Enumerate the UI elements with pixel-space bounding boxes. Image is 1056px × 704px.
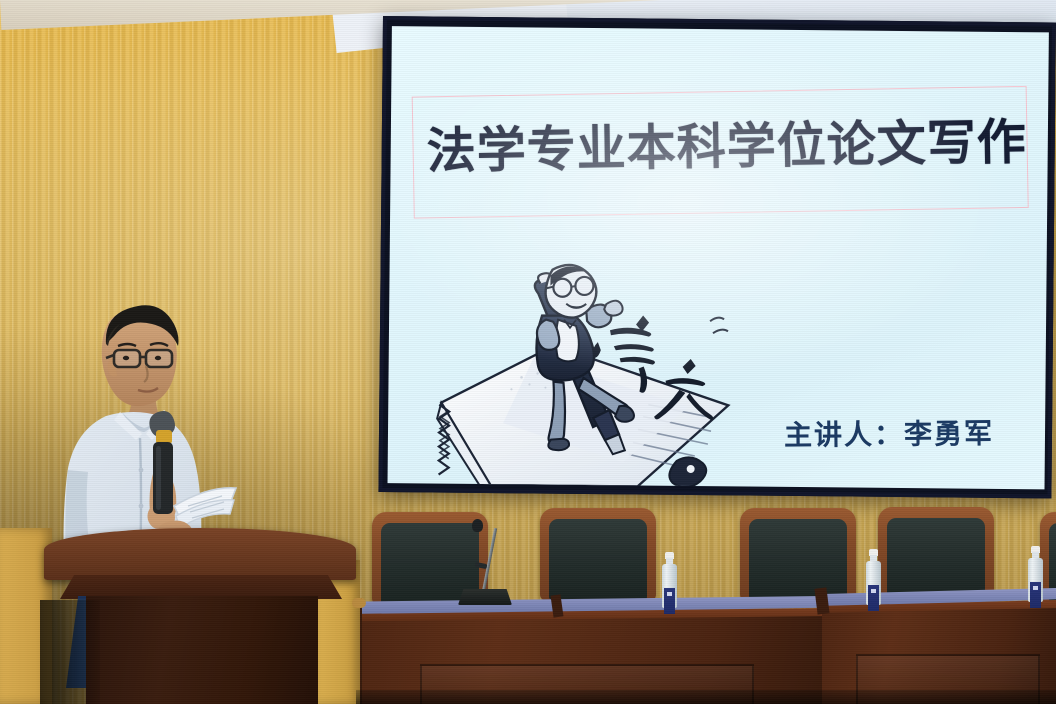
lectern-shadow	[40, 600, 100, 704]
slide-presenter-line: 主讲人：李勇军	[784, 412, 994, 454]
bottle-body	[1028, 558, 1043, 602]
chair[interactable]	[740, 508, 856, 600]
bottle-label	[1030, 582, 1041, 608]
chair-backrest-pad	[549, 519, 647, 600]
chair[interactable]	[878, 507, 994, 599]
microphone-gooseneck	[482, 528, 497, 591]
lectern-top	[44, 528, 356, 580]
slide-title: 法学专业本科学位论文写作	[426, 119, 1027, 177]
bottle-body	[662, 564, 677, 608]
chair-backrest-pad	[749, 519, 847, 600]
projector-glow	[388, 26, 1049, 489]
microphone-collar	[475, 562, 488, 569]
water-bottle[interactable]	[1028, 546, 1043, 602]
bottle-label	[664, 588, 675, 614]
cartoon-man-riding-pen-on-thesis-stack	[432, 253, 734, 490]
floor-shadow	[356, 690, 1056, 704]
presentation-slide: 法学专业本科学位论文写作	[388, 26, 1049, 489]
desk-microphone[interactable]	[452, 519, 512, 605]
bottle-label	[868, 585, 879, 611]
projection-screen[interactable]: 法学专业本科学位论文写作	[378, 16, 1056, 498]
lectern-body	[86, 596, 318, 704]
water-bottle[interactable]	[662, 552, 677, 608]
bottle-body	[866, 561, 881, 605]
chair-backrest-pad	[887, 518, 985, 599]
title-border-box	[412, 86, 1029, 219]
photo-scene: 法学专业本科学位论文写作	[0, 0, 1056, 704]
chair[interactable]	[540, 508, 656, 600]
microphone-base	[458, 589, 512, 605]
water-bottle[interactable]	[866, 549, 881, 605]
table-knob	[352, 598, 366, 608]
microphone-capsule	[472, 519, 483, 532]
